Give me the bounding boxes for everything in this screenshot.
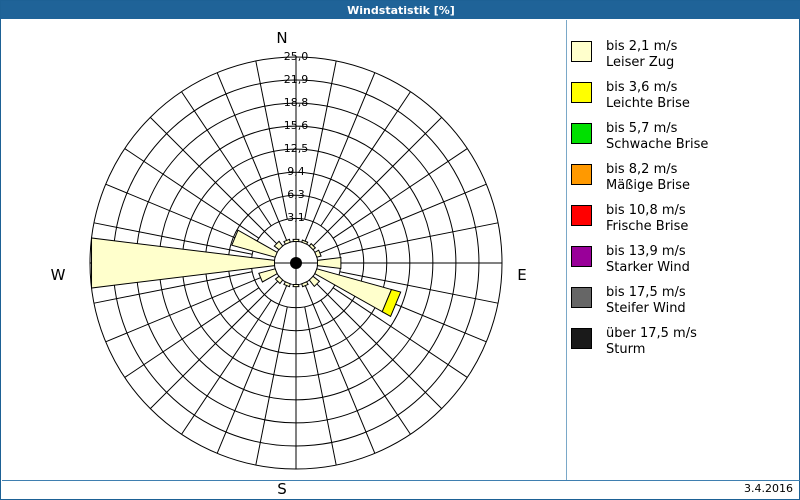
legend-item-text: bis 3,6 m/sLeichte Brise [606, 80, 690, 112]
legend-item-text: bis 8,2 m/sMäßige Brise [606, 162, 690, 194]
legend-swatch-icon [571, 246, 592, 267]
petal-segment [315, 269, 392, 312]
legend-item-name: Steifer Wind [606, 301, 686, 317]
legend-item-text: bis 5,7 m/sSchwache Brise [606, 121, 708, 153]
radial-tick-label: 3,1 [266, 211, 326, 224]
petal-segment [315, 250, 321, 257]
legend-item: bis 8,2 m/sMäßige Brise [571, 162, 796, 194]
petal-segment [293, 284, 299, 286]
legend-item: über 17,5 m/sSturm [571, 326, 796, 358]
legend-item-speed: bis 2,1 m/s [606, 39, 677, 55]
petal-segment [302, 240, 308, 244]
panel-divider [566, 20, 567, 480]
legend-item-speed: bis 3,6 m/s [606, 80, 690, 96]
radial-tick-label: 21,9 [266, 73, 326, 86]
legend-item-text: bis 10,8 m/sFrische Brise [606, 203, 688, 235]
cardinal-label-north: N [2, 29, 562, 47]
legend-item-speed: über 17,5 m/s [606, 326, 697, 342]
legend-item-name: Mäßige Brise [606, 178, 690, 194]
legend-item-text: bis 2,1 m/sLeiser Zug [606, 39, 677, 71]
wind-rose-plot [2, 20, 562, 499]
legend-item-name: Leiser Zug [606, 55, 677, 71]
legend-item-name: Schwache Brise [606, 137, 708, 153]
legend-item-speed: bis 17,5 m/s [606, 285, 686, 301]
radial-tick-label: 18,8 [266, 96, 326, 109]
petal-segment [317, 258, 340, 269]
radial-tick-label: 15,6 [266, 119, 326, 132]
legend-swatch-icon [571, 328, 592, 349]
legend-swatch-icon [571, 287, 592, 308]
window-title-bar: Windstatistik [%] [1, 1, 800, 19]
legend-item-name: Frische Brise [606, 219, 688, 235]
legend-swatch-icon [571, 164, 592, 185]
petal-segment [302, 282, 308, 287]
windstatistik-window: Windstatistik [%] N S W E 3,16,39,412,51… [0, 0, 800, 500]
wind-rose-chart: N S W E 3,16,39,412,515,618,821,925,0 [2, 20, 562, 499]
legend-item-name: Sturm [606, 342, 697, 358]
legend-item-speed: bis 5,7 m/s [606, 121, 708, 137]
legend-item-speed: bis 13,9 m/s [606, 244, 690, 260]
legend-item: bis 2,1 m/sLeiser Zug [571, 39, 796, 71]
petal-segment [259, 269, 277, 282]
legend-item: bis 3,6 m/sLeichte Brise [571, 80, 796, 112]
petal-segment [232, 230, 277, 257]
cardinal-label-east: E [502, 266, 542, 284]
radial-tick-label: 12,5 [266, 142, 326, 155]
legend-item: bis 17,5 m/sSteifer Wind [571, 285, 796, 317]
radial-tick-label: 9,4 [266, 165, 326, 178]
legend-item-name: Starker Wind [606, 260, 690, 276]
legend-item-name: Leichte Brise [606, 96, 690, 112]
legend-item-text: bis 17,5 m/sSteifer Wind [606, 285, 686, 317]
legend-item: bis 13,9 m/sStarker Wind [571, 244, 796, 276]
legend-swatch-icon [571, 82, 592, 103]
legend-swatch-icon [571, 205, 592, 226]
legend-item-text: bis 13,9 m/sStarker Wind [606, 244, 690, 276]
footer-divider [2, 480, 800, 481]
window-title: Windstatistik [%] [347, 4, 455, 17]
legend: bis 2,1 m/sLeiser Zugbis 3,6 m/sLeichte … [571, 39, 796, 367]
legend-swatch-icon [571, 123, 592, 144]
legend-item-text: über 17,5 m/sSturm [606, 326, 697, 358]
legend-swatch-icon [571, 41, 592, 62]
radial-tick-label: 25,0 [266, 50, 326, 63]
date-stamp: 3.4.2016 [744, 482, 793, 495]
cardinal-label-south: S [2, 480, 562, 498]
legend-item-speed: bis 10,8 m/s [606, 203, 688, 219]
petal-segment [284, 282, 290, 287]
petal-segment [284, 239, 290, 244]
petal-segment [293, 239, 299, 241]
legend-item: bis 10,8 m/sFrische Brise [571, 203, 796, 235]
legend-item-speed: bis 8,2 m/s [606, 162, 690, 178]
radial-tick-label: 6,3 [266, 188, 326, 201]
cardinal-label-west: W [38, 266, 78, 284]
legend-item: bis 5,7 m/sSchwache Brise [571, 121, 796, 153]
